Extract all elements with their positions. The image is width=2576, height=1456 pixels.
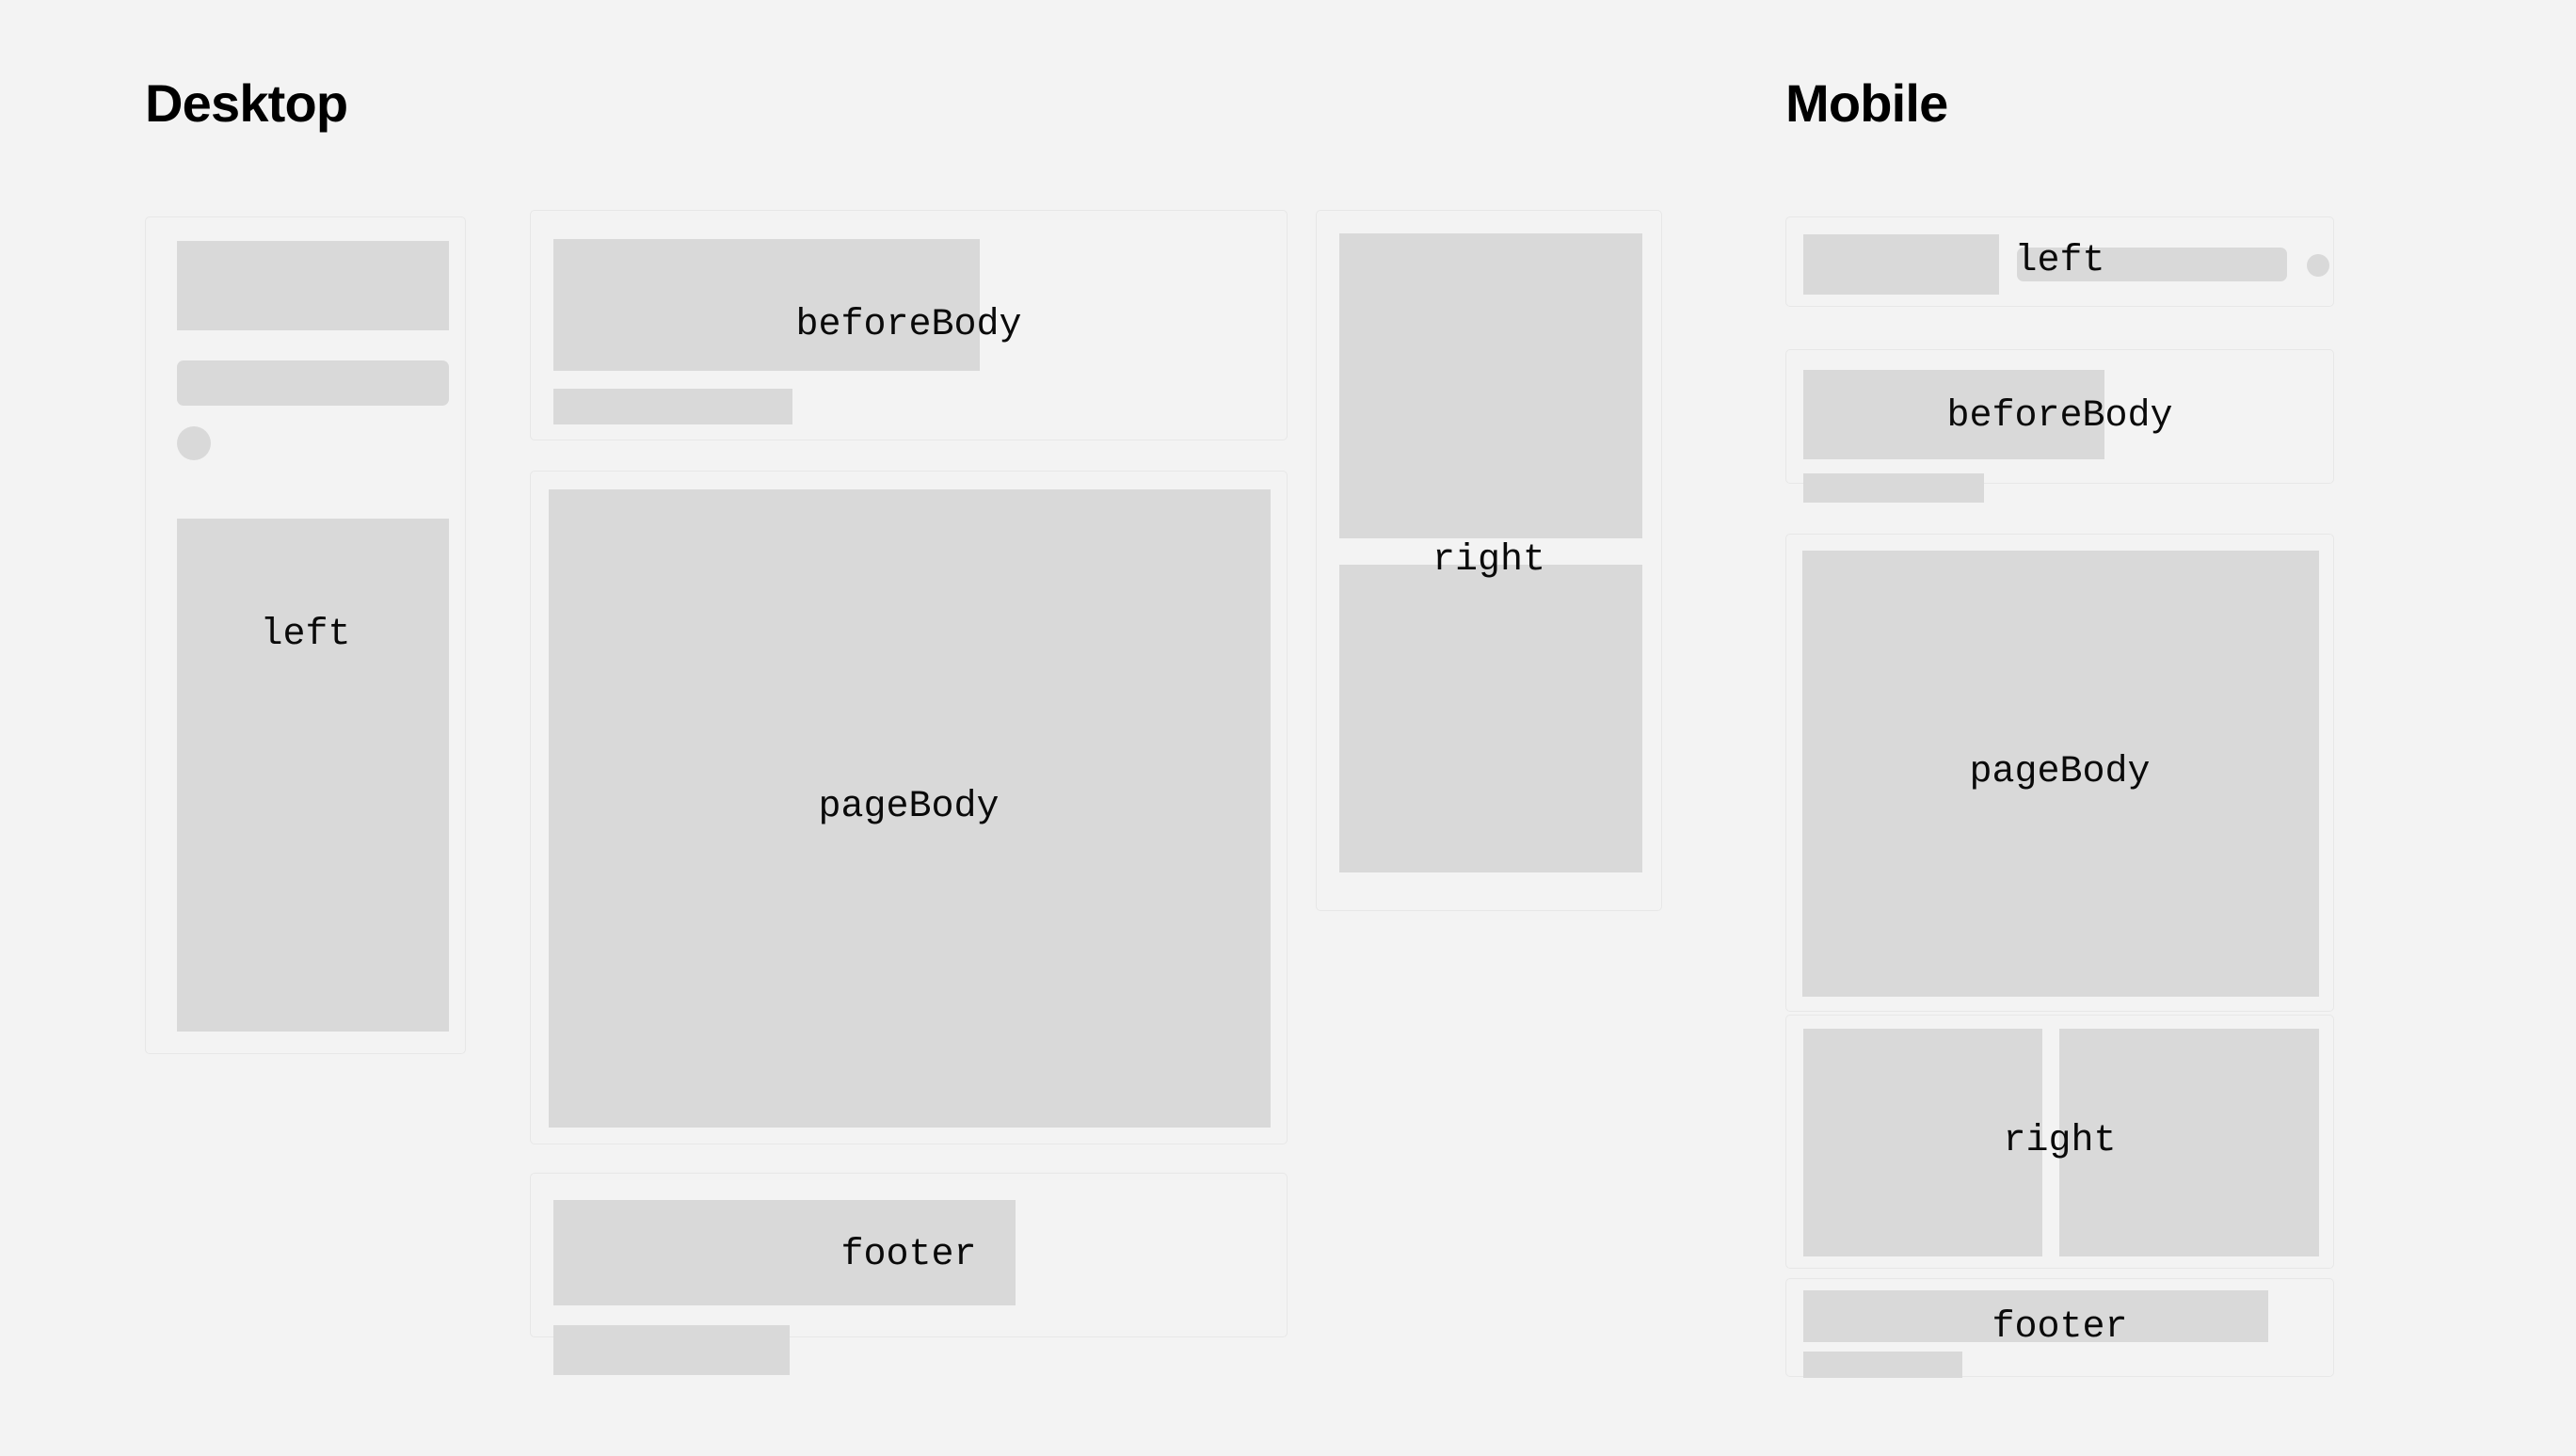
desktop-left-slot-card[interactable]: left [145, 216, 466, 1054]
mobile-footer-slot-card[interactable]: footer [1785, 1278, 2334, 1377]
skeleton-bar [177, 360, 449, 406]
skeleton-block [177, 519, 449, 1032]
desktop-beforebody-slot-card[interactable]: beforeBody [530, 210, 1288, 440]
desktop-pagebody-slot-card[interactable]: pageBody [530, 471, 1288, 1144]
skeleton-bar [553, 389, 792, 424]
skeleton-block [553, 1200, 1016, 1305]
mobile-left-slot-card[interactable]: left [1785, 216, 2334, 307]
skeleton-block [1803, 370, 2104, 459]
skeleton-block [1339, 233, 1642, 538]
skeleton-bar [1803, 1352, 1962, 1378]
skeleton-bar [553, 1325, 790, 1375]
skeleton-block [1803, 1029, 2042, 1256]
skeleton-block [1803, 1290, 2268, 1342]
skeleton-avatar-circle [177, 426, 211, 460]
skeleton-bar [1803, 473, 1984, 503]
skeleton-block [1802, 551, 2319, 997]
mobile-section-title: Mobile [1785, 77, 1948, 130]
mobile-right-slot-card[interactable]: right [1785, 1015, 2334, 1269]
skeleton-block [1803, 234, 1999, 295]
skeleton-block [2059, 1029, 2319, 1256]
mobile-beforebody-slot-card[interactable]: beforeBody [1785, 349, 2334, 484]
skeleton-block [1339, 565, 1642, 872]
desktop-right-slot-card[interactable]: right [1316, 210, 1662, 911]
mobile-pagebody-slot-card[interactable]: pageBody [1785, 534, 2334, 1012]
skeleton-block [553, 239, 980, 371]
skeleton-bar [2017, 248, 2287, 281]
desktop-section-title: Desktop [145, 77, 347, 130]
desktop-footer-slot-card[interactable]: footer [530, 1173, 1288, 1337]
layout-preview-canvas: Desktop left beforeBody pageBody right f… [0, 0, 2576, 1456]
skeleton-avatar-circle [2307, 254, 2329, 277]
skeleton-block [177, 241, 449, 330]
skeleton-block [549, 489, 1271, 1128]
